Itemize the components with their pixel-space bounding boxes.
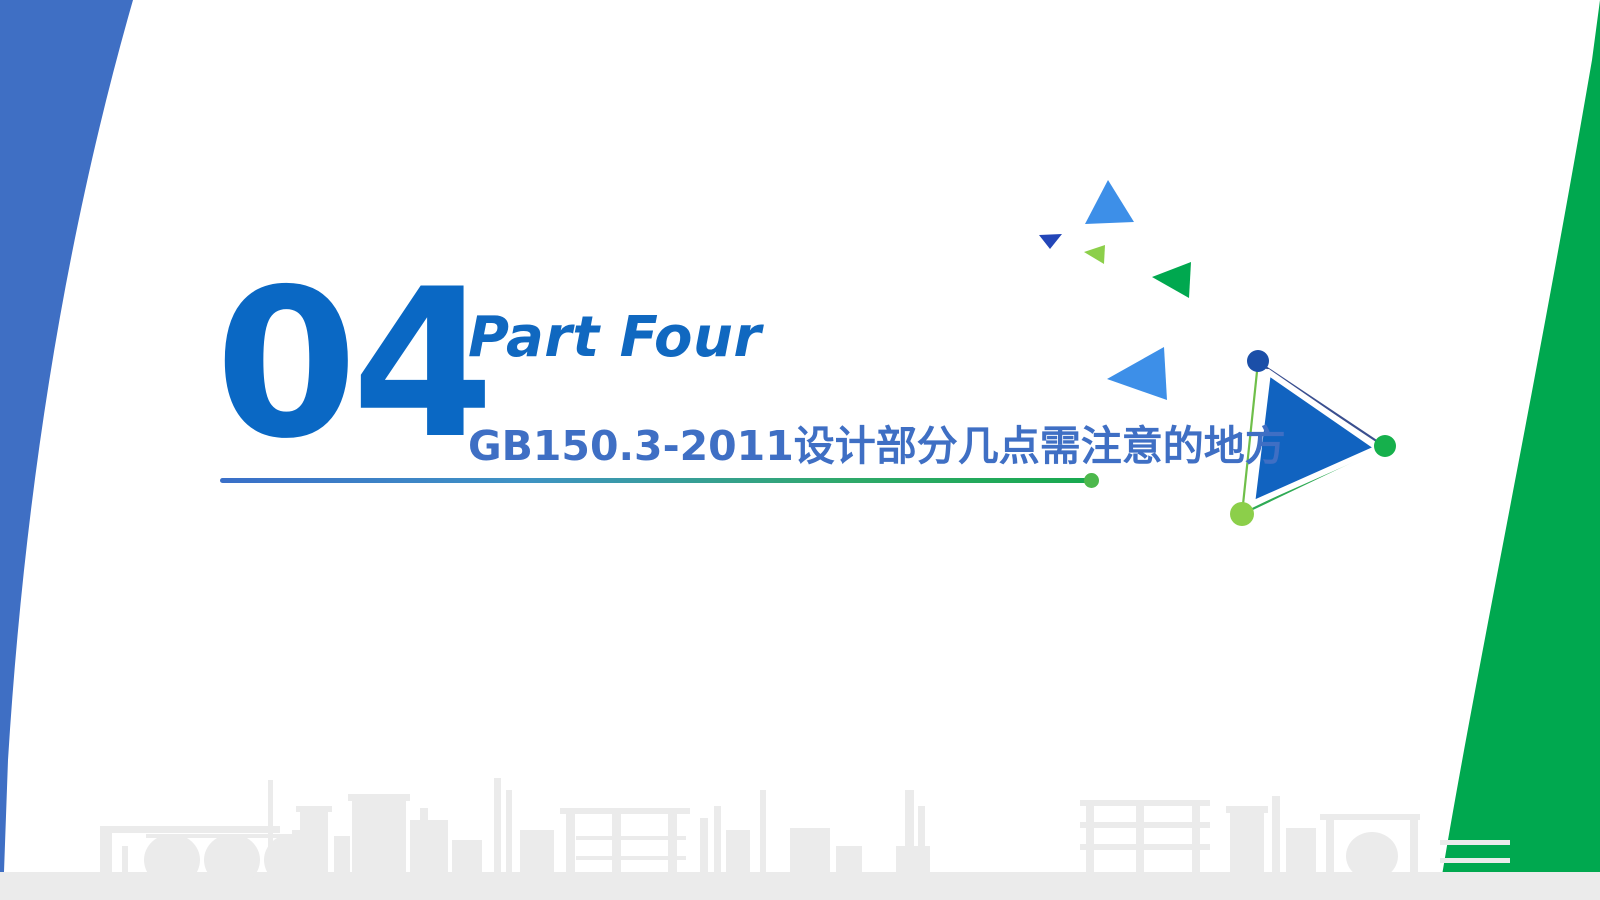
light-blue-left-triangle-icon — [1107, 347, 1167, 400]
triangle-node-top-icon — [1247, 350, 1269, 372]
section-subtitle: GB150.3-2011设计部分几点需注意的地方 — [468, 412, 1286, 472]
part-label: Part Four — [468, 305, 762, 370]
presentation-slide: 04 Part Four GB150.3-2011设计部分几点需注意的地方 — [0, 0, 1600, 900]
light-blue-up-triangle-icon — [1085, 180, 1134, 224]
triangle-node-bottom-icon — [1230, 502, 1254, 526]
dark-blue-down-triangle-icon — [1039, 234, 1062, 249]
section-number: 04 — [215, 268, 488, 463]
light-green-left-triangle-icon — [1084, 245, 1105, 264]
divider-endpoint-dot — [1084, 473, 1099, 488]
dark-green-left-triangle-icon — [1152, 262, 1191, 298]
triangle-node-right-icon — [1374, 435, 1396, 457]
